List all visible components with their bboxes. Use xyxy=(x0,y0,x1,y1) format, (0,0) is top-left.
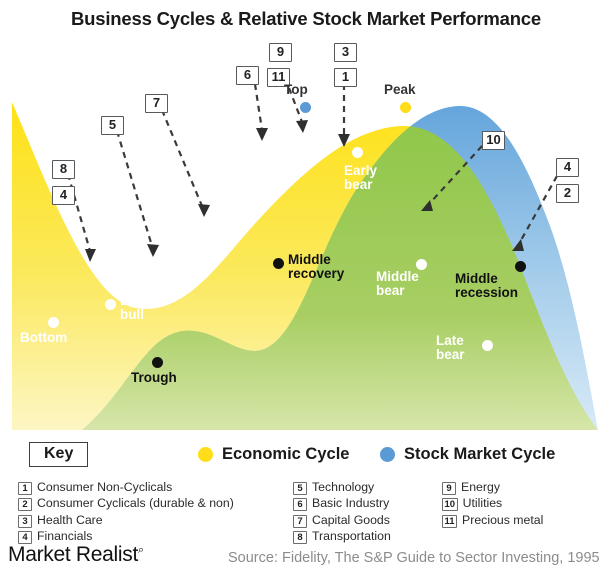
label-early-bear: Early bear xyxy=(344,164,377,192)
page-title: Business Cycles & Relative Stock Market … xyxy=(0,8,612,30)
key-item-6: 6 Basic Industry xyxy=(293,496,391,511)
marker-early-bull xyxy=(105,299,116,310)
key-item-10: 10 Utilities xyxy=(442,496,543,511)
callout-box-9[interactable]: 9 xyxy=(269,43,292,62)
key-number-6: 6 xyxy=(293,498,307,511)
legend: Key Economic Cycle Stock Market Cycle 1 … xyxy=(12,436,598,536)
callout-box-3[interactable]: 3 xyxy=(334,43,357,62)
marker-middle-bull xyxy=(177,227,188,238)
label-late-bull: Late bull xyxy=(245,144,273,172)
magnifier-icon: ⌕ xyxy=(138,544,144,556)
callout-box-7[interactable]: 7 xyxy=(145,94,168,113)
marker-trough xyxy=(152,357,163,368)
key-item-7: 7 Capital Goods xyxy=(293,513,391,528)
marker-early-bear xyxy=(352,147,363,158)
key-item-2: 2 Consumer Cyclicals (durable & non) xyxy=(18,496,234,511)
key-text-9: Energy xyxy=(461,480,500,495)
key-text-11: Precious metal xyxy=(462,513,543,528)
callout-box-1[interactable]: 1 xyxy=(334,68,357,87)
label-peak: Peak xyxy=(384,83,416,97)
label-early-bull: Early bull xyxy=(120,294,153,322)
key-number-10: 10 xyxy=(442,498,458,511)
key-number-9: 9 xyxy=(442,482,456,495)
label-trough: Trough xyxy=(131,371,177,385)
marker-late-bull xyxy=(230,149,241,160)
key-column-3: 9 Energy 10 Utilities 11 Precious metal xyxy=(442,480,543,529)
callout-box-4-early-bull[interactable]: 4 xyxy=(52,186,75,205)
callout-box-2[interactable]: 2 xyxy=(556,184,579,203)
key-text-5: Technology xyxy=(312,480,374,495)
label-middle-bull: Middle bull xyxy=(192,222,235,250)
label-middle-bear: Middle bear xyxy=(376,270,419,298)
economic-cycle-swatch-icon xyxy=(198,447,213,462)
label-top: Top xyxy=(284,83,308,97)
key-number-11: 11 xyxy=(442,515,457,528)
key-text-3: Health Care xyxy=(37,513,103,528)
key-number-3: 3 xyxy=(18,515,32,528)
key-item-1: 1 Consumer Non-Cyclicals xyxy=(18,480,234,495)
stock-market-cycle-swatch-icon xyxy=(380,447,395,462)
key-column-1: 1 Consumer Non-Cyclicals 2 Consumer Cycl… xyxy=(18,480,234,546)
marker-middle-recession xyxy=(515,261,526,272)
key-number-7: 7 xyxy=(293,515,307,528)
label-middle-recovery: Middle recovery xyxy=(288,253,344,281)
key-text-7: Capital Goods xyxy=(312,513,390,528)
source-note: Source: Fidelity, The S&P Guide to Secto… xyxy=(228,550,600,566)
market-realist-logo: Market Realist⌕ xyxy=(8,543,144,567)
key-number-1: 1 xyxy=(18,482,32,495)
key-text-1: Consumer Non-Cyclicals xyxy=(37,480,172,495)
label-middle-recession: Middle recession xyxy=(455,272,518,300)
key-number-5: 5 xyxy=(293,482,307,495)
callout-box-8[interactable]: 8 xyxy=(52,160,75,179)
key-item-5: 5 Technology xyxy=(293,480,391,495)
legend-entry-stock-market-cycle: Stock Market Cycle xyxy=(380,445,555,464)
marker-peak xyxy=(400,102,411,113)
legend-label-economic-cycle: Economic Cycle xyxy=(222,445,349,464)
key-column-2: 5 Technology 6 Basic Industry 7 Capital … xyxy=(293,480,391,546)
marker-late-bear xyxy=(482,340,493,351)
marker-top xyxy=(300,102,311,113)
key-text-2: Consumer Cyclicals (durable & non) xyxy=(37,496,234,511)
marker-middle-recovery xyxy=(273,258,284,269)
brand-text: Market Realist xyxy=(8,543,138,566)
key-text-6: Basic Industry xyxy=(312,496,389,511)
callout-box-10[interactable]: 10 xyxy=(482,131,505,150)
label-bottom: Bottom xyxy=(20,331,67,345)
footer: Market Realist⌕ Source: Fidelity, The S&… xyxy=(0,541,612,577)
key-item-3: 3 Health Care xyxy=(18,513,234,528)
marker-bottom xyxy=(48,317,59,328)
legend-label-stock-market-cycle: Stock Market Cycle xyxy=(404,445,555,464)
chart-area: 8 4 5 7 6 9 11 3 1 10 4 2 Bottom Early b… xyxy=(12,46,598,430)
legend-entry-economic-cycle: Economic Cycle xyxy=(198,445,349,464)
callout-box-4-late-bear[interactable]: 4 xyxy=(556,158,579,177)
callout-box-5[interactable]: 5 xyxy=(101,116,124,135)
key-label: Key xyxy=(29,442,88,467)
key-item-11: 11 Precious metal xyxy=(442,513,543,528)
key-text-10: Utilities xyxy=(463,496,503,511)
callout-box-6[interactable]: 6 xyxy=(236,66,259,85)
label-late-bear: Late bear xyxy=(436,334,465,362)
key-number-2: 2 xyxy=(18,498,32,511)
key-item-9: 9 Energy xyxy=(442,480,543,495)
